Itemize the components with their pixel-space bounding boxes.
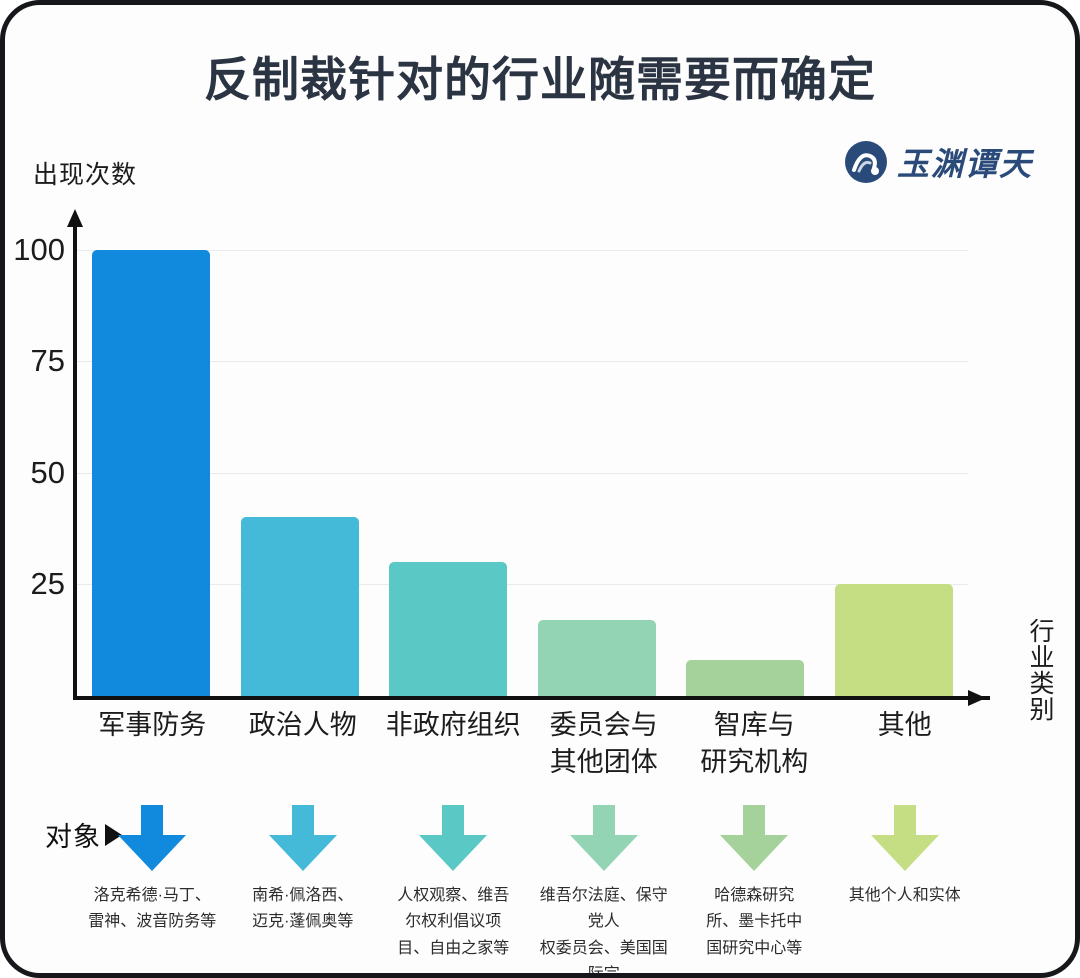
category-label: 智库与 研究机构 [679, 707, 830, 782]
arrow-down-icon [267, 805, 339, 873]
category-label: 政治人物 [228, 707, 379, 782]
wave-circle-icon [844, 140, 888, 184]
x-axis-line [73, 696, 990, 700]
arrow-slot [679, 805, 830, 873]
bar-slot [374, 205, 523, 696]
y-tick-label: 25 [31, 566, 65, 602]
bar-slot [226, 205, 375, 696]
arrow-slot [378, 805, 529, 873]
category-label: 其他 [830, 707, 981, 782]
arrow-slot [830, 805, 981, 873]
example-label: 其他个人和实体 [830, 883, 981, 909]
example-label: 哈德森研究 所、墨卡托中 国研究中心等 [679, 883, 830, 962]
infographic-card: 反制裁针对的行业随需要而确定 玉渊谭天 出现次数 行业类别 100755025 … [0, 0, 1080, 978]
category-label: 委员会与 其他团体 [529, 707, 680, 782]
bar-slot [77, 205, 226, 696]
arrow-down-icon [718, 805, 790, 873]
y-tick-label: 100 [13, 232, 65, 268]
arrow-down-icon [417, 805, 489, 873]
arrow-down-icon [869, 805, 941, 873]
arrow-down-icon [568, 805, 640, 873]
bar-series [77, 205, 968, 696]
arrow-down-icon [116, 805, 188, 873]
y-axis-label: 出现次数 [33, 155, 137, 191]
example-label: 南希·佩洛西、 迈克·蓬佩奥等 [228, 883, 379, 936]
example-label: 洛克希德·马丁、 雷神、波音防务等 [77, 883, 228, 936]
page-title: 反制裁针对的行业随需要而确定 [5, 41, 1075, 110]
bar[interactable] [241, 517, 359, 696]
category-labels: 军事防务政治人物非政府组织委员会与 其他团体智库与 研究机构其他 [77, 707, 980, 782]
x-axis-label: 行业类别 [1027, 619, 1057, 723]
bar[interactable] [538, 620, 656, 696]
bar[interactable] [835, 584, 953, 696]
bar-slot [671, 205, 820, 696]
category-label: 军事防务 [77, 707, 228, 782]
arrow-row [77, 805, 980, 873]
bar[interactable] [92, 250, 210, 696]
example-label: 人权观察、维吾 尔权利倡议项 目、自由之家等 [378, 883, 529, 962]
arrow-slot [228, 805, 379, 873]
logo-text: 玉渊谭天 [897, 139, 1033, 185]
bar[interactable] [389, 562, 507, 696]
logo: 玉渊谭天 [844, 139, 1033, 185]
y-tick-label: 50 [31, 455, 65, 491]
bar-slot [820, 205, 969, 696]
category-label: 非政府组织 [378, 707, 529, 782]
x-axis-arrow-icon [968, 690, 986, 706]
bar[interactable] [686, 660, 804, 696]
arrow-slot [77, 805, 228, 873]
example-label: 维吾尔法庭、保守党人 权委员会、美国国际宗 教自由委员会成员等 [529, 883, 680, 978]
example-labels: 洛克希德·马丁、 雷神、波音防务等南希·佩洛西、 迈克·蓬佩奥等人权观察、维吾 … [77, 883, 980, 978]
arrow-slot [529, 805, 680, 873]
bar-slot [523, 205, 672, 696]
y-tick-label: 75 [31, 343, 65, 379]
plot-area: 100755025 [73, 205, 1008, 700]
